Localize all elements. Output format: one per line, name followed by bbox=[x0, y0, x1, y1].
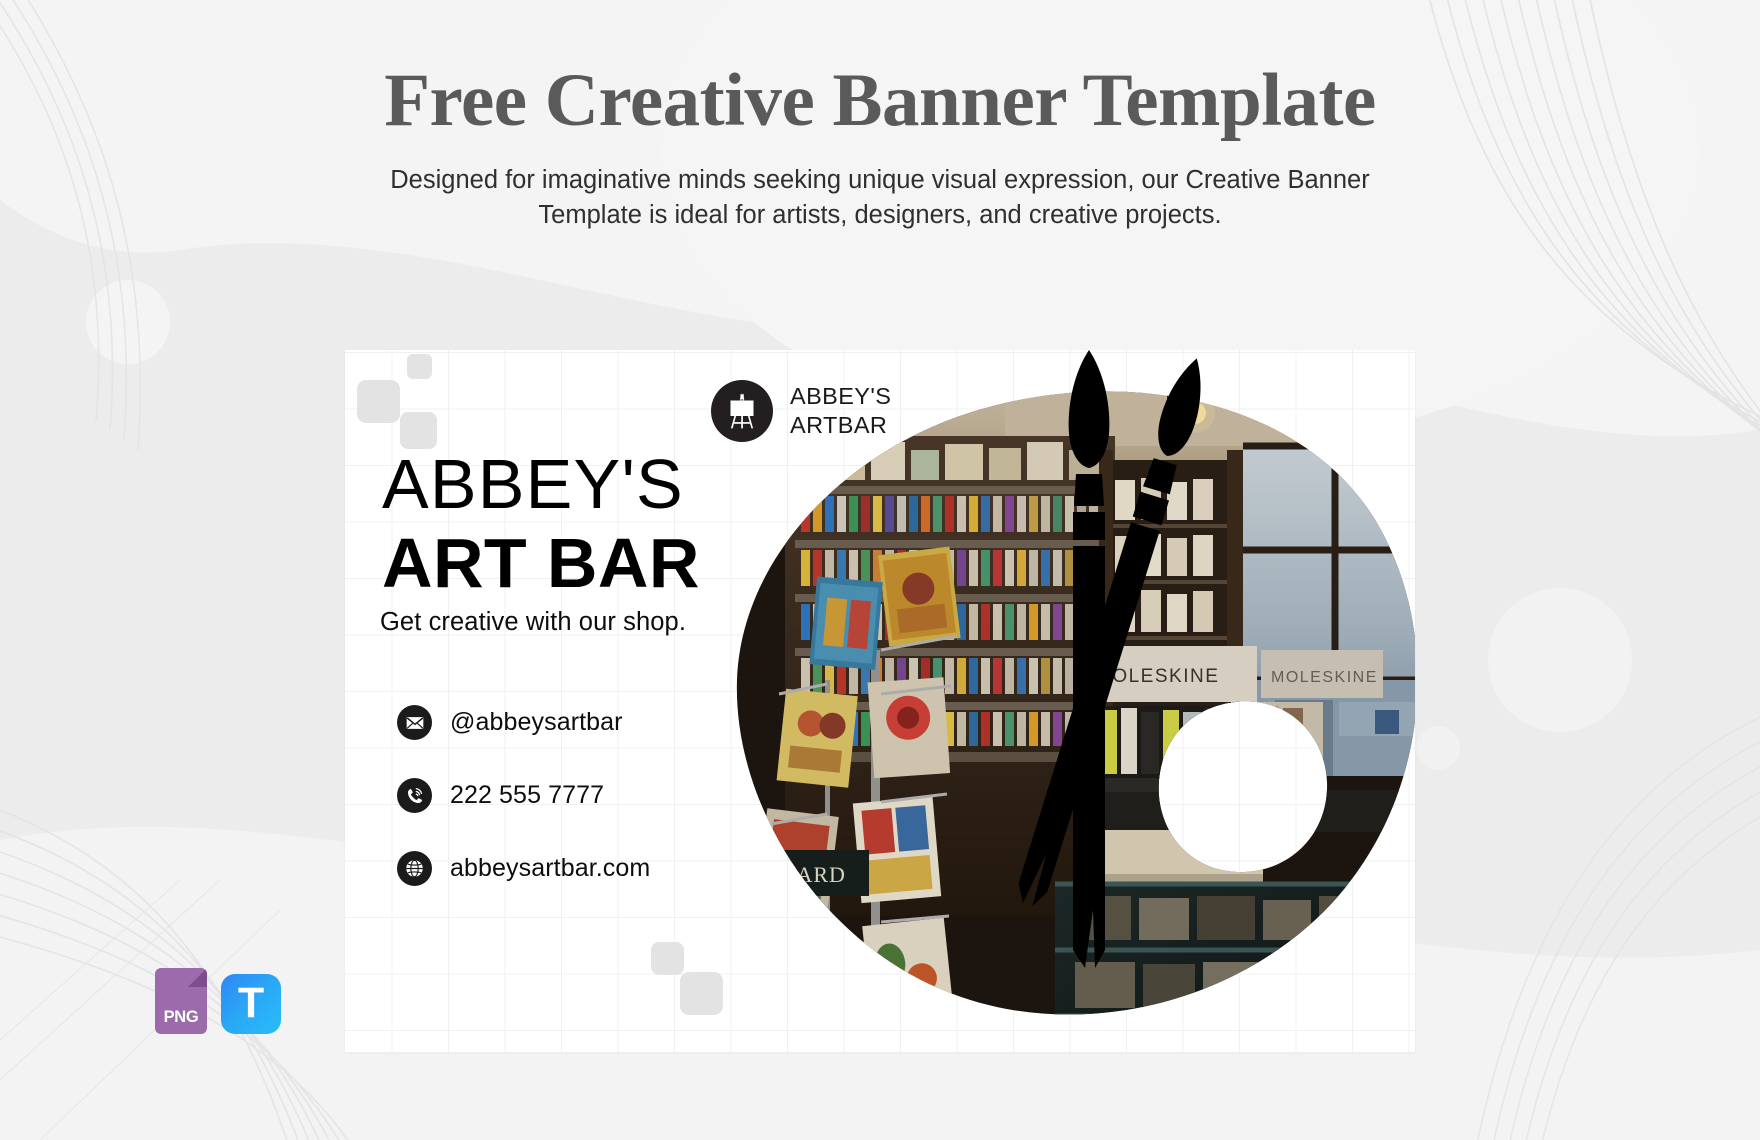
brand-name-block: ABBEY'S ART BAR bbox=[382, 447, 700, 601]
png-badge[interactable]: PNG bbox=[155, 968, 207, 1034]
page-title: Free Creative Banner Template bbox=[0, 62, 1760, 141]
template-badge[interactable]: T bbox=[221, 974, 281, 1034]
decorative-square-small-bottom bbox=[400, 412, 437, 449]
banner-preview-card[interactable]: EL HARD MOLESKINE MOLESKINE bbox=[345, 350, 1415, 1052]
palette-artwork: EL HARD MOLESKINE MOLESKINE bbox=[675, 350, 1415, 1052]
contact-list: @abbeysartbar 222 555 7777 bbox=[397, 705, 650, 886]
contact-phone-label: 222 555 7777 bbox=[450, 781, 604, 810]
contact-row-website[interactable]: abbeysartbar.com bbox=[397, 851, 650, 886]
globe-icon bbox=[397, 851, 432, 886]
envelope-icon bbox=[397, 705, 432, 740]
png-badge-label: PNG bbox=[164, 1008, 199, 1027]
contact-website-label: abbeysartbar.com bbox=[450, 854, 650, 883]
brand-name-line1: ABBEY'S bbox=[382, 447, 700, 522]
contact-row-phone[interactable]: 222 555 7777 bbox=[397, 778, 650, 813]
logo-wordmark: ABBEY'S ARTBAR bbox=[790, 382, 891, 439]
contact-row-email[interactable]: @abbeysartbar bbox=[397, 705, 650, 740]
logo-wordmark-line1: ABBEY'S bbox=[790, 382, 891, 411]
brand-name-line2: ART BAR bbox=[382, 526, 700, 601]
decorative-square-small-top bbox=[407, 354, 432, 379]
page-subtitle: Designed for imaginative minds seeking u… bbox=[345, 163, 1415, 233]
contact-email-label: @abbeysartbar bbox=[450, 708, 623, 737]
file-format-badges: PNG T bbox=[155, 968, 281, 1034]
logo-wordmark-line2: ARTBAR bbox=[790, 411, 891, 440]
easel-icon bbox=[711, 380, 773, 442]
template-badge-label: T bbox=[238, 982, 264, 1025]
page-header: Free Creative Banner Template Designed f… bbox=[0, 0, 1760, 233]
banner-logo-lockup: ABBEY'S ARTBAR bbox=[711, 380, 891, 442]
phone-icon bbox=[397, 778, 432, 813]
banner-tagline: Get creative with our shop. bbox=[380, 608, 686, 637]
decorative-square-large bbox=[357, 380, 400, 423]
